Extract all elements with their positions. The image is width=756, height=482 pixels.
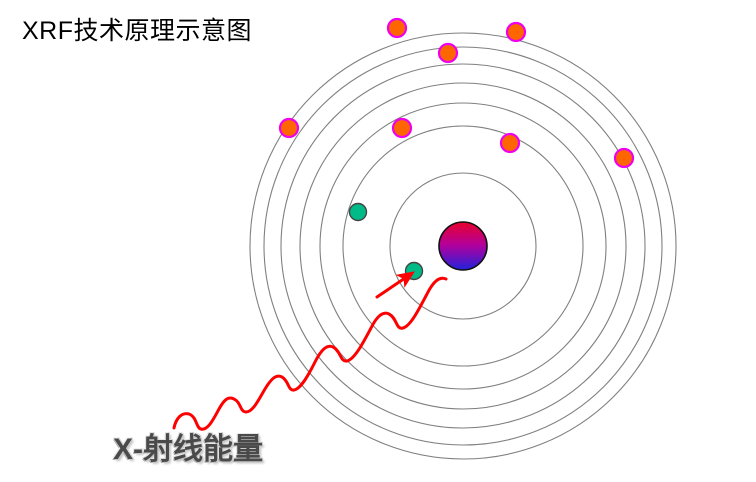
electron-orange-4 (280, 119, 298, 137)
page-title: XRF技术原理示意图 (22, 16, 252, 46)
xray-beam-arrow (377, 276, 408, 297)
electron-orange-2 (439, 44, 457, 62)
xray-energy-label: X-射线能量 (113, 424, 263, 468)
xrf-diagram-figure: XRF技术原理示意图 X-射线能量 (0, 0, 756, 482)
electron-orange-5 (393, 119, 411, 137)
electron-group-inner (350, 204, 423, 280)
electron-orange-7 (615, 149, 633, 167)
electron-group-outer (280, 19, 633, 167)
electron-teal-1 (350, 204, 367, 221)
electron-orange-3 (507, 23, 525, 41)
electron-orange-6 (501, 134, 519, 152)
electron-orange-1 (388, 19, 406, 37)
nucleus (439, 222, 487, 270)
atom-diagram-canvas (0, 0, 756, 482)
